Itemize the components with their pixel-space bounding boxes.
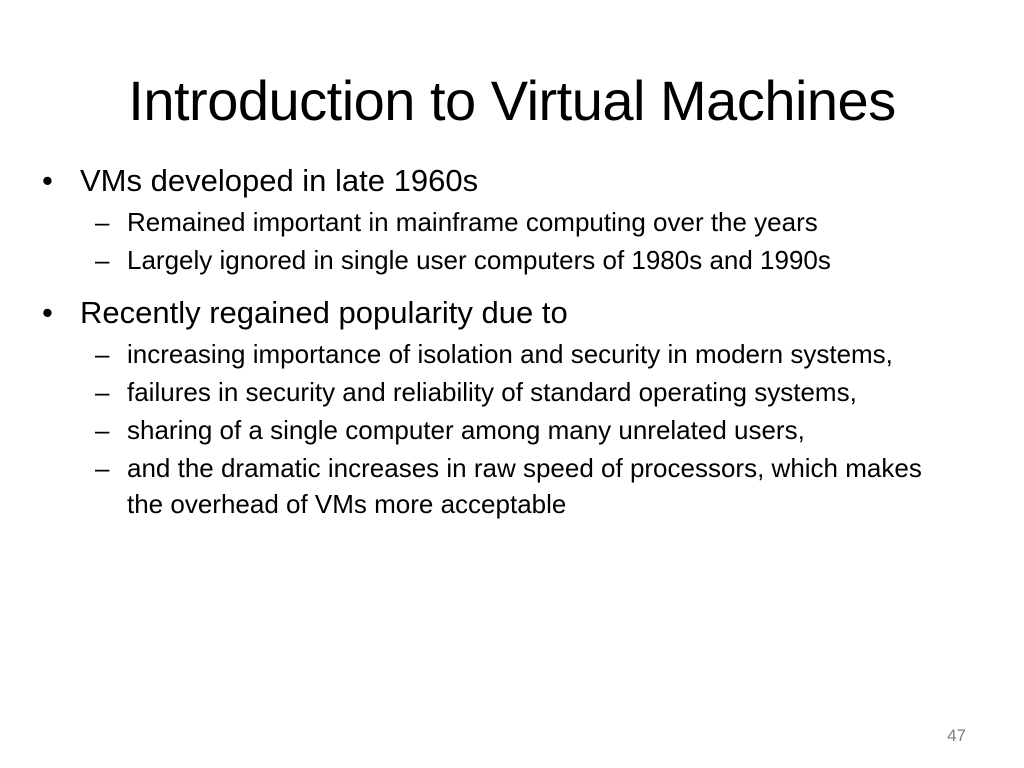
slide-body: • VMs developed in late 1960s – Remained… [30,160,990,524]
sub-bullet-text: Remained important in mainframe computin… [127,204,942,240]
page-number: 47 [947,726,966,746]
bullet-list-level2: – increasing importance of isolation and… [80,336,990,522]
bullet-marker-icon: • [42,160,62,202]
slide: Introduction to Virtual Machines • VMs d… [0,0,1024,768]
sub-bullet-item: – sharing of a single computer among man… [80,412,990,448]
bullet-text: VMs developed in late 1960s [80,160,980,202]
sub-bullet-text: increasing importance of isolation and s… [127,336,942,372]
sub-bullet-item: – Remained important in mainframe comput… [80,204,990,240]
dash-marker-icon: – [95,374,117,410]
sub-bullet-item: – failures in security and reliability o… [80,374,990,410]
sub-bullet-text: Largely ignored in single user computers… [127,242,942,278]
sub-bullet-text: and the dramatic increases in raw speed … [127,450,942,522]
sub-bullet-text: failures in security and reliability of … [127,374,942,410]
sub-bullet-item: – Largely ignored in single user compute… [80,242,990,278]
sub-bullet-item: – and the dramatic increases in raw spee… [80,450,990,522]
dash-marker-icon: – [95,450,117,486]
bullet-list-level2: – Remained important in mainframe comput… [80,204,990,278]
dash-marker-icon: – [95,336,117,372]
bullet-list-level1: • VMs developed in late 1960s – Remained… [30,160,990,522]
bullet-item: • VMs developed in late 1960s – Remained… [30,160,990,278]
sub-bullet-text: sharing of a single computer among many … [127,412,942,448]
dash-marker-icon: – [95,204,117,240]
bullet-marker-icon: • [42,292,62,334]
bullet-text: Recently regained popularity due to [80,292,980,334]
page-title: Introduction to Virtual Machines [0,66,1024,136]
sub-bullet-item: – increasing importance of isolation and… [80,336,990,372]
bullet-item: • Recently regained popularity due to – … [30,292,990,522]
dash-marker-icon: – [95,242,117,278]
dash-marker-icon: – [95,412,117,448]
